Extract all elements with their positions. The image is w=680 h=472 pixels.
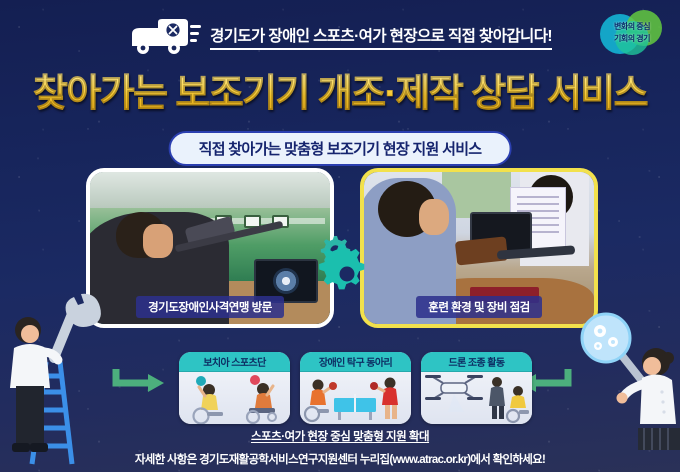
photo-caption-wrap-2: 훈련 환경 및 장비 점검 <box>364 296 594 318</box>
card-title-table-tennis: 장애인 탁구 동아리 <box>300 352 411 372</box>
boccia-wheelchair-athletes-icon <box>179 372 290 424</box>
brand-line-2: 기회의 경기 <box>614 33 650 44</box>
wrench-icon <box>54 294 101 358</box>
service-truck-icon <box>128 16 202 58</box>
photo-panel-shooting: 경기도장애인사격연맹 방문 <box>86 168 334 328</box>
arrow-right-icon <box>112 366 168 396</box>
magnifier-icon <box>582 314 646 386</box>
photo-caption-wrap: 경기도장애인사격연맹 방문 <box>90 296 330 318</box>
card-table-tennis[interactable]: 장애인 탁구 동아리 <box>300 352 411 424</box>
header-row: 경기도가 장애인 스포츠·여가 현장으로 직접 찾아갑니다! <box>0 14 680 60</box>
card-drone[interactable]: 드론 조종 활동 <box>421 352 532 424</box>
person-with-magnifier-illustration <box>580 300 680 450</box>
poster-canvas: 경기도가 장애인 스포츠·여가 현장으로 직접 찾아갑니다! 변화의 중심 기회… <box>0 0 680 472</box>
header-tagline: 경기도가 장애인 스포츠·여가 현장으로 직접 찾아갑니다! <box>210 24 552 50</box>
photo-caption-shooting: 경기도장애인사격연맹 방문 <box>136 296 284 318</box>
card-title-boccia: 보치아 스포츠단 <box>179 352 290 372</box>
photo-caption-inspection: 훈련 환경 및 장비 점검 <box>416 296 542 318</box>
subtitle-pill: 직접 찾아가는 맞춤형 보조기기 현장 지원 서비스 <box>169 131 512 166</box>
drone-piloting-icon <box>421 372 532 424</box>
worker-with-wrench-on-ladder-illustration <box>2 288 106 466</box>
brand-line-1: 변화의 중심 <box>614 21 650 32</box>
photo-panel-inspection: 훈련 환경 및 장비 점검 <box>360 168 598 328</box>
gears-icon <box>318 232 380 298</box>
card-boccia[interactable]: 보치아 스포츠단 <box>179 352 290 424</box>
card-title-drone: 드론 조종 활동 <box>421 352 532 372</box>
gyeonggi-brand-logo: 변화의 중심 기회의 경기 <box>596 8 668 56</box>
page-title: 찾아가는 보조기기 개조·제작 상담 서비스 <box>0 62 680 117</box>
para-table-tennis-icon <box>300 372 411 424</box>
